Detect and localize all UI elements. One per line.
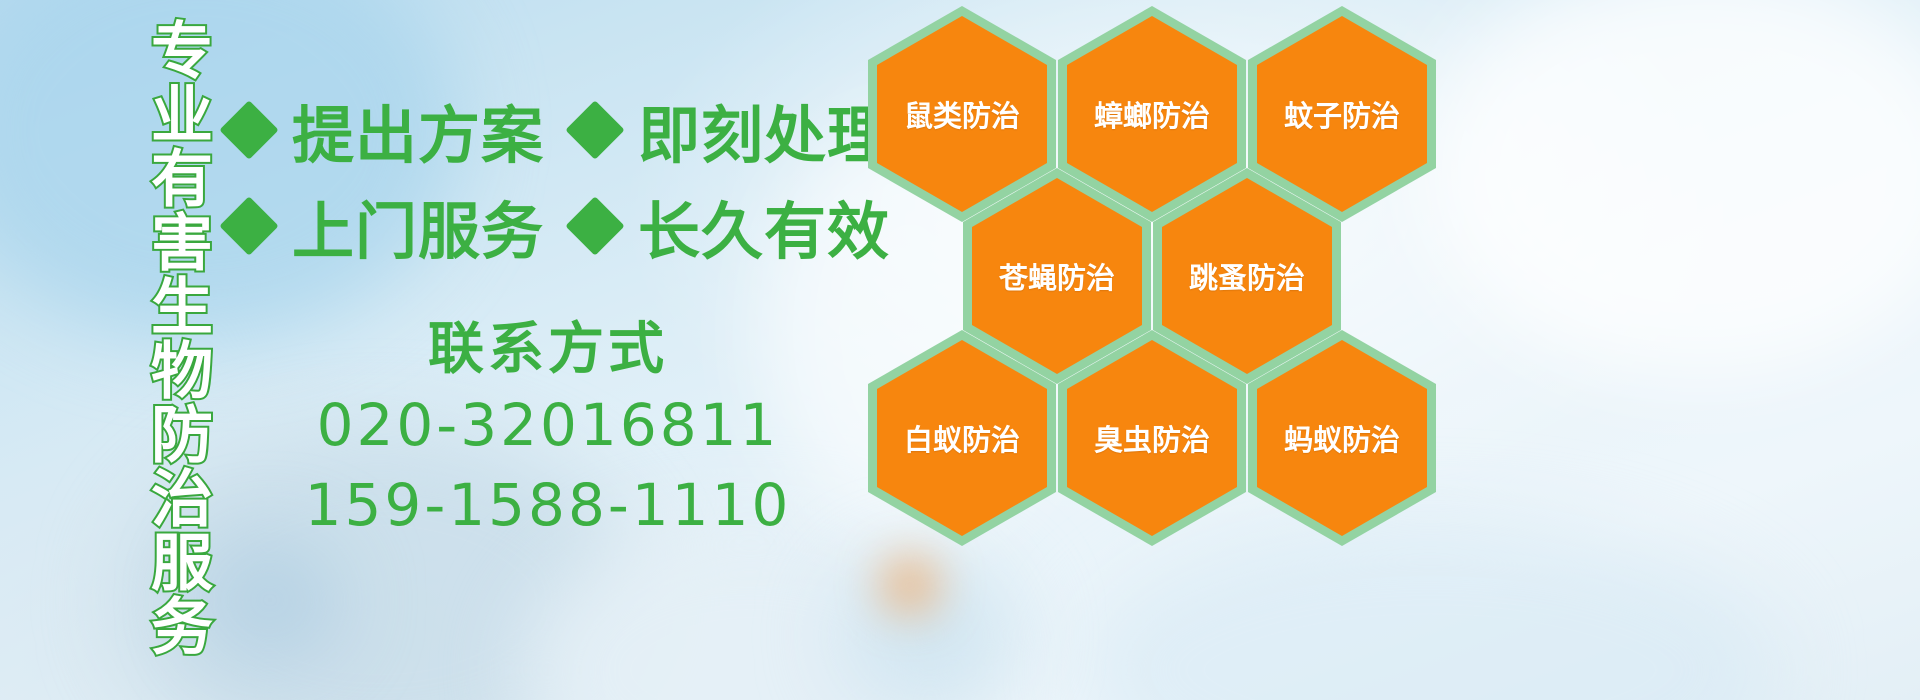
service-label: 蚊子防治 [1284,93,1400,135]
service-label: 跳蚤防治 [1189,255,1305,297]
service-honeycomb: 鼠类防治 蟑螂防治 蚊子防治 苍蝇防治 跳蚤防治 白蚁防治 臭虫防治 [860,0,1460,560]
service-label: 苍蝇防治 [999,255,1115,297]
service-label: 臭虫防治 [1094,417,1210,459]
slogan-item: 提出方案 [228,85,544,175]
contact-title: 联系方式 [228,315,868,385]
service-label: 鼠类防治 [904,93,1020,135]
diamond-icon [219,196,278,255]
background-blob [1420,0,1920,380]
slogan-row: 上门服务 长久有效 [228,178,868,274]
diamond-icon [565,196,624,255]
service-label: 白蚁防治 [904,417,1020,459]
background-blob [880,555,940,615]
slogan-label: 即刻处理 [638,85,890,175]
service-label: 蚂蚁防治 [1284,417,1400,459]
service-label: 蟑螂防治 [1094,93,1210,135]
slogan-row: 提出方案 即刻处理 [228,82,868,178]
slogan-block: 提出方案 即刻处理 上门服务 长久有效 [228,82,868,274]
slogan-item: 上门服务 [228,181,544,271]
diamond-icon [219,100,278,159]
vertical-headline: 专业有害生物防治服务 [110,18,208,658]
slogan-item: 长久有效 [574,181,890,271]
background-blob [840,560,1020,700]
slogan-label: 提出方案 [292,85,544,175]
slogan-label: 上门服务 [292,181,544,271]
phone-number-primary[interactable]: 020-32016811 [228,385,868,465]
background-blob [200,540,340,660]
diamond-icon [565,100,624,159]
phone-number-secondary[interactable]: 159-1588-1110 [228,465,868,545]
contact-block: 联系方式 020-32016811 159-1588-1110 [228,315,868,545]
slogan-label: 长久有效 [638,181,890,271]
slogan-item: 即刻处理 [574,85,890,175]
pest-control-banner: 专业有害生物防治服务 提出方案 即刻处理 上门服务 长久有效 [0,0,1920,700]
